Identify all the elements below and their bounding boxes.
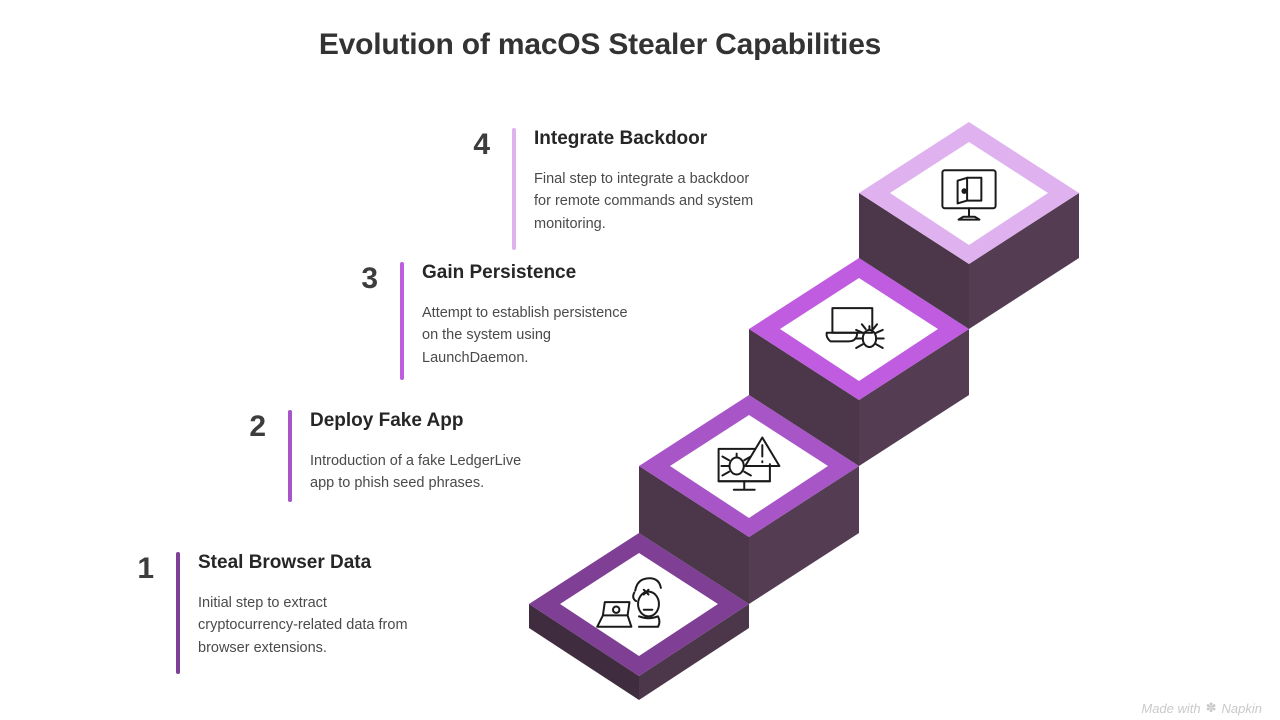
stair-step-4 bbox=[859, 122, 1079, 329]
step-title-3: Gain Persistence bbox=[422, 262, 722, 284]
step-number-4: 4 bbox=[452, 130, 490, 160]
infographic-canvas: Evolution of macOS Stealer Capabilities bbox=[0, 0, 1280, 720]
step-1-top-face bbox=[560, 553, 718, 656]
step-3-riser bbox=[749, 329, 859, 466]
step-title-4: Integrate Backdoor bbox=[534, 128, 844, 150]
step-1-top-accent bbox=[529, 533, 749, 676]
napkin-watermark: Made with ✽ Napkin bbox=[1141, 700, 1262, 716]
step-accent-bar-4 bbox=[512, 128, 516, 250]
monitor-door-icon bbox=[942, 170, 995, 219]
step-number-2: 2 bbox=[228, 412, 266, 442]
step-description-1: Initial step to extract cryptocurrency-r… bbox=[198, 592, 508, 659]
flower-icon: ✽ bbox=[1206, 700, 1217, 716]
step-3-top-accent bbox=[749, 258, 969, 400]
stair-step-1 bbox=[529, 533, 749, 700]
step-description-2: Introduction of a fake LedgerLive app to… bbox=[310, 450, 610, 495]
step-2-side-right bbox=[749, 466, 859, 604]
step-4-side-right bbox=[969, 193, 1079, 329]
step-4-riser bbox=[859, 193, 969, 329]
watermark-brand: Napkin bbox=[1222, 701, 1262, 716]
hacker-with-laptop-icon bbox=[597, 578, 661, 627]
step-4-top-face bbox=[890, 142, 1048, 245]
step-3-top-face bbox=[780, 278, 938, 381]
step-title-1: Steal Browser Data bbox=[198, 552, 508, 574]
step-body-3: Gain Persistence Attempt to establish pe… bbox=[422, 262, 722, 369]
step-accent-bar-2 bbox=[288, 410, 292, 502]
step-block-2: 2 Deploy Fake App Introduction of a fake… bbox=[228, 410, 610, 502]
step-1-side-left bbox=[529, 604, 639, 700]
laptop-bug-icon bbox=[827, 308, 884, 348]
step-number-1: 1 bbox=[116, 554, 154, 584]
step-body-4: Integrate Backdoor Final step to integra… bbox=[534, 128, 844, 235]
step-2-riser bbox=[639, 466, 749, 604]
step-number-3: 3 bbox=[340, 264, 378, 294]
step-block-4: 4 Integrate Backdoor Final step to integ… bbox=[452, 128, 844, 250]
step-3-side-right bbox=[859, 329, 969, 466]
step-4-top-accent bbox=[859, 122, 1079, 264]
step-title-2: Deploy Fake App bbox=[310, 410, 610, 432]
step-accent-bar-1 bbox=[176, 552, 180, 674]
stair-step-3 bbox=[749, 258, 969, 466]
step-body-1: Steal Browser Data Initial step to extra… bbox=[198, 552, 508, 659]
step-accent-bar-3 bbox=[400, 262, 404, 380]
step-body-2: Deploy Fake App Introduction of a fake L… bbox=[310, 410, 610, 495]
step-description-4: Final step to integrate a backdoor for r… bbox=[534, 168, 844, 235]
step-1-side-right bbox=[639, 604, 749, 700]
stair-step-2 bbox=[639, 395, 859, 604]
step-block-1: 1 Steal Browser Data Initial step to ext… bbox=[116, 552, 508, 674]
step-description-3: Attempt to establish persistence on the … bbox=[422, 302, 722, 369]
step-block-3: 3 Gain Persistence Attempt to establish … bbox=[340, 262, 722, 380]
step-2-top-accent bbox=[639, 395, 859, 537]
monitor-bug-warning-icon bbox=[719, 438, 780, 490]
page-title: Evolution of macOS Stealer Capabilities bbox=[0, 28, 1200, 62]
watermark-prefix: Made with bbox=[1141, 701, 1200, 716]
step-2-top-face bbox=[670, 415, 828, 518]
